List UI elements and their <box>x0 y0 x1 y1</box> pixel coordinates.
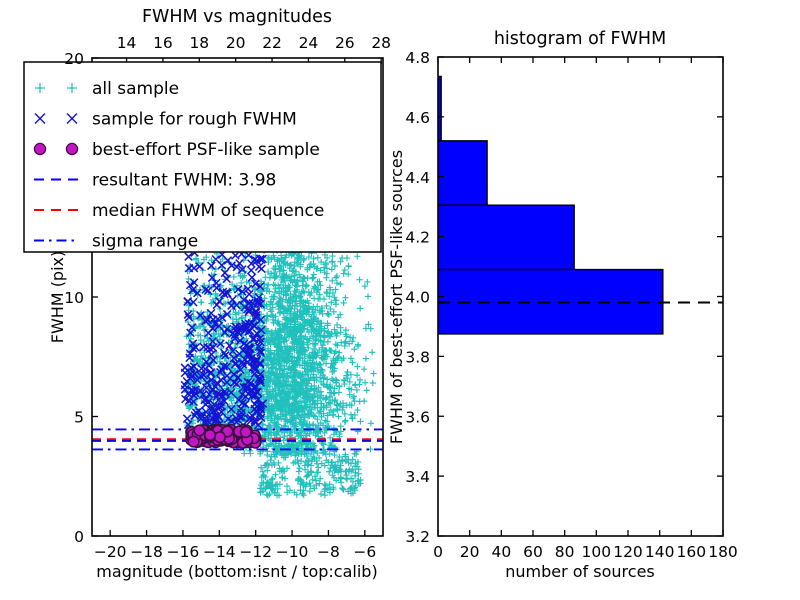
xtick-top-label: 24 <box>299 34 319 52</box>
ytick-label: 3.6 <box>405 408 430 426</box>
ytick-label: 4.8 <box>405 49 430 67</box>
xtick-label: 20 <box>460 543 480 561</box>
legend-item-label: all sample <box>92 79 179 99</box>
matplotlib-figure: FWHM vs magnitudes magnitude (bottom:isn… <box>0 0 800 600</box>
data-point-circle <box>241 427 252 438</box>
ytick-label: 0 <box>74 528 84 546</box>
data-point-circle <box>194 425 205 436</box>
data-point-circle <box>188 436 199 447</box>
legend-item-label: median FHWM of sequence <box>92 201 324 221</box>
ytick-label: 3.4 <box>405 468 430 486</box>
xtick-top-label: 28 <box>371 34 391 52</box>
xtick-top-label: 26 <box>335 34 355 52</box>
right-panel-title: histogram of FWHM <box>494 29 666 49</box>
series-psf-like-sample <box>186 424 261 448</box>
ytick-label: 4.6 <box>405 109 430 127</box>
ytick-label: 10 <box>64 289 84 307</box>
xtick-label: 0 <box>433 543 443 561</box>
xtick-label: 60 <box>523 543 543 561</box>
xtick-label: 160 <box>677 543 707 561</box>
xtick-bottom-label: −6 <box>353 543 376 561</box>
data-point-circle <box>205 430 216 441</box>
xtick-top-label: 20 <box>226 34 246 52</box>
xtick-label: 120 <box>613 543 643 561</box>
data-point-circle <box>215 432 226 443</box>
xtick-label: 180 <box>708 543 738 561</box>
legend-item-label: sample for rough FWHM <box>92 110 297 130</box>
histogram-bar <box>438 141 487 205</box>
ytick-label: 5 <box>74 409 84 427</box>
xtick-top-label: 14 <box>117 34 137 52</box>
xtick-label: 140 <box>645 543 675 561</box>
xtick-label: 80 <box>555 543 575 561</box>
xtick-top-label: 18 <box>189 34 209 52</box>
figure-canvas: FWHM vs magnitudes magnitude (bottom:isn… <box>0 0 800 600</box>
legend-item-label: resultant FWHM: 3.98 <box>92 171 276 191</box>
xtick-bottom-label: −20 <box>94 543 127 561</box>
xtick-label: 40 <box>491 543 511 561</box>
xtick-top-label: 16 <box>153 34 173 52</box>
ytick-label: 3.2 <box>405 528 430 546</box>
filled-circle-icon <box>34 143 45 154</box>
xtick-bottom-label: −8 <box>317 543 340 561</box>
left-xaxis-label: magnitude (bottom:isnt / top:calib) <box>96 562 377 581</box>
xtick-bottom-label: −18 <box>130 543 163 561</box>
xtick-bottom-label: −14 <box>203 543 236 561</box>
left-panel-legend: all samplesample for rough FWHMbest-effo… <box>24 62 381 252</box>
xtick-top-label: 22 <box>262 34 282 52</box>
xtick-label: 100 <box>582 543 612 561</box>
legend-item-label: best-effort PSF-like sample <box>92 140 320 160</box>
left-panel-title: FWHM vs magnitudes <box>142 7 332 27</box>
right-xaxis-label: number of sources <box>505 562 655 581</box>
ytick-label: 4.2 <box>405 229 430 247</box>
xtick-bottom-label: −10 <box>276 543 309 561</box>
right-yaxis-label: FWHM of best-effort PSF-like sources <box>387 150 406 444</box>
legend-item-label: sigma range <box>92 232 198 252</box>
ytick-label: 20 <box>64 50 84 68</box>
xtick-bottom-label: −12 <box>239 543 272 561</box>
xtick-bottom-label: −16 <box>167 543 200 561</box>
ytick-label: 3.8 <box>405 348 430 366</box>
ytick-label: 4.4 <box>405 169 430 187</box>
histogram-bar <box>438 205 574 269</box>
ytick-label: 4.0 <box>405 289 430 307</box>
filled-circle-icon <box>66 143 77 154</box>
